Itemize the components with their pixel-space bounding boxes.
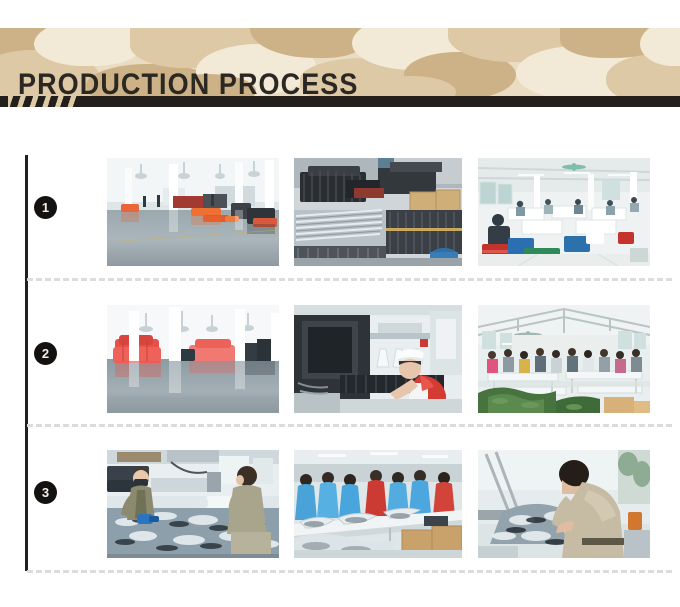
step-badge-2: 2 bbox=[34, 342, 57, 365]
step-badge-1: 1 bbox=[34, 196, 57, 219]
production-process-page: PRODUCTION PROCESS 1 2 3 bbox=[0, 0, 680, 607]
step-1-photo-3 bbox=[478, 158, 650, 266]
step-2-photo-1 bbox=[107, 305, 279, 413]
step-1-photo-2 bbox=[294, 158, 462, 266]
step-separator-3 bbox=[27, 570, 672, 573]
step-2-photo-3 bbox=[478, 305, 650, 413]
banner-bottom-bar bbox=[0, 96, 680, 107]
step-3-photo-2 bbox=[294, 450, 462, 558]
step-badge-3: 3 bbox=[34, 481, 57, 504]
hazard-stripes-icon bbox=[8, 96, 80, 107]
step-1-photo-1 bbox=[107, 158, 279, 266]
step-separator-1 bbox=[27, 278, 672, 281]
step-2-photo-2 bbox=[294, 305, 462, 413]
page-banner: PRODUCTION PROCESS bbox=[0, 28, 680, 96]
step-3-photo-3 bbox=[478, 450, 650, 558]
step-separator-2 bbox=[27, 424, 672, 427]
step-3-photo-1 bbox=[107, 450, 279, 558]
timeline-axis bbox=[25, 155, 28, 571]
page-title: PRODUCTION PROCESS bbox=[18, 70, 358, 96]
